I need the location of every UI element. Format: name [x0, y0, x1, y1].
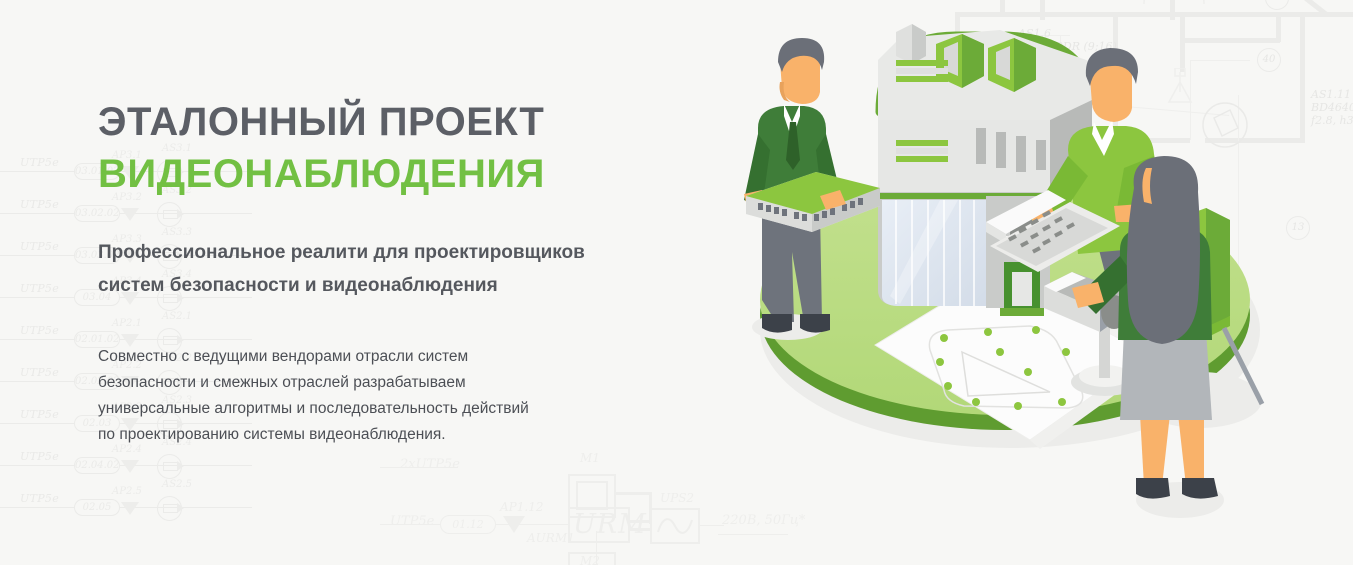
hero-text-block: ЭТАЛОННЫЙ ПРОЕКТ ВИДЕОНАБЛЮДЕНИЯ Професс… — [98, 96, 718, 448]
cable-label: UTP5e — [20, 240, 59, 253]
access-point-marker-icon — [121, 460, 139, 473]
right-shoe — [1182, 478, 1218, 499]
glass-curtain-wall — [882, 200, 986, 306]
access-point-marker — [503, 516, 525, 533]
cable-label: UTP5e — [20, 366, 59, 379]
body-line-1: Совместно с ведущими вендорами отрасли с… — [98, 344, 718, 370]
access-point-marker-icon — [121, 502, 139, 515]
aurm-label: AURM1 — [527, 531, 575, 545]
body-line-2: безопасности и смежных отраслей разрабат… — [98, 370, 718, 396]
hero-illustration — [700, 0, 1353, 565]
skirt — [1120, 330, 1212, 420]
left-shoe — [762, 314, 792, 333]
subtitle-line-2: систем безопасности и видеонаблюдения — [98, 269, 718, 302]
ups-box — [650, 508, 700, 544]
cable-label-utp5e: UTP5e — [390, 514, 434, 529]
node-id: 02.04.02 — [74, 457, 120, 474]
monitor-m1-outer — [568, 474, 616, 518]
sine-wave-icon — [656, 514, 694, 538]
body-line-3: универсальные алгоритмы и последовательн… — [98, 396, 718, 422]
right-leg — [1178, 414, 1204, 486]
monitor-m1-inner — [576, 481, 608, 510]
monitor-m2-outer — [568, 552, 616, 565]
node-id: 02.05 — [74, 499, 120, 516]
camera-icon — [157, 495, 187, 521]
monitor-label-m1: M1 — [580, 451, 600, 465]
urm-label: URM — [573, 510, 647, 540]
ups-label: UPS2 — [660, 491, 694, 505]
long-hair — [1127, 156, 1200, 344]
cable-line — [0, 465, 252, 466]
access-point-label: AP2.5 — [112, 486, 142, 497]
cable-label: UTP5e — [20, 282, 59, 295]
cable-line — [0, 507, 252, 508]
right-shoe — [800, 314, 830, 333]
cable-label: UTP5e — [20, 156, 59, 169]
left-leg — [1140, 414, 1170, 486]
subtitle-line-1: Профессиональное реалити для проектировщ… — [98, 236, 718, 269]
cable-label: UTP5e — [20, 324, 59, 337]
hero-body-copy: Совместно с ведущими вендорами отрасли с… — [98, 344, 718, 448]
cable-label-2xutp5e: 2xUTP5e — [400, 457, 460, 472]
camera-label: AS2.5 — [162, 479, 192, 490]
entrance-door-glass — [1012, 272, 1032, 306]
cable-label: UTP5e — [20, 198, 59, 211]
page-title: ЭТАЛОННЫЙ ПРОЕКТ ВИДЕОНАБЛЮДЕНИЯ — [98, 96, 718, 200]
camera-icon — [157, 453, 187, 479]
surveillance-scene-svg — [700, 0, 1353, 565]
cable-label: UTP5e — [20, 450, 59, 463]
left-shoe — [1136, 478, 1170, 499]
entrance-step — [1000, 308, 1044, 316]
urm-box — [568, 507, 630, 543]
cable-label: UTP5e — [20, 408, 59, 421]
hero-banner: UTP5e03.01.02AP3.1AS3.1UTP5e03.02.02AP3.… — [0, 0, 1353, 565]
monitor-label-m2: M2 — [580, 554, 600, 565]
title-line-2-accent: ВИДЕОНАБЛЮДЕНИЯ — [98, 148, 718, 200]
node-id-01-12: 01.12 — [440, 515, 496, 534]
body-line-4: по проектированию системы видеонаблюдени… — [98, 422, 718, 448]
hero-subtitle: Профессиональное реалити для проектировщ… — [98, 236, 718, 302]
title-line-1: ЭТАЛОННЫЙ ПРОЕКТ — [98, 100, 544, 144]
access-point-label-ap1-12: AP1.12 — [500, 500, 543, 514]
cable-label: UTP5e — [20, 492, 59, 505]
